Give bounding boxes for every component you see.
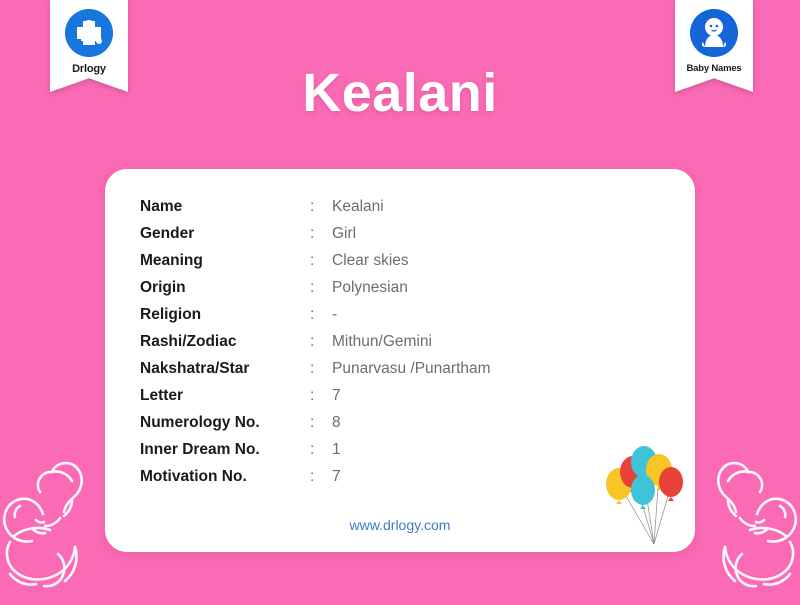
name-details-table: Name:KealaniGender:GirlMeaning:Clear ski… — [140, 193, 491, 490]
table-row: Letter:7 — [140, 382, 491, 409]
table-row: Inner Dream No.:1 — [140, 436, 491, 463]
table-row: Gender:Girl — [140, 220, 491, 247]
row-label: Letter — [140, 382, 310, 409]
row-value: 7 — [332, 463, 491, 490]
row-label: Motivation No. — [140, 463, 310, 490]
row-separator: : — [310, 355, 332, 382]
baby-icon — [690, 9, 738, 57]
row-separator: : — [310, 463, 332, 490]
row-label: Religion — [140, 301, 310, 328]
row-separator: : — [310, 247, 332, 274]
row-value: Punarvasu /Punartham — [332, 355, 491, 382]
row-value: 1 — [332, 436, 491, 463]
mother-and-baby-icon — [0, 450, 106, 600]
table-row: Rashi/Zodiac:Mithun/Gemini — [140, 328, 491, 355]
row-value: Polynesian — [332, 274, 491, 301]
row-value: Mithun/Gemini — [332, 328, 491, 355]
row-label: Nakshatra/Star — [140, 355, 310, 382]
name-details-card: Name:KealaniGender:GirlMeaning:Clear ski… — [105, 169, 695, 552]
row-separator: : — [310, 382, 332, 409]
table-row: Motivation No.:7 — [140, 463, 491, 490]
row-separator: : — [310, 409, 332, 436]
mother-and-baby-icon — [694, 450, 800, 600]
doctor-medical-cross-icon — [65, 9, 113, 57]
balloons-icon — [597, 440, 689, 552]
row-label: Origin — [140, 274, 310, 301]
website-link[interactable]: www.drlogy.com — [105, 517, 695, 533]
row-value: Kealani — [332, 193, 491, 220]
table-row: Name:Kealani — [140, 193, 491, 220]
table-row: Numerology No.:8 — [140, 409, 491, 436]
row-label: Rashi/Zodiac — [140, 328, 310, 355]
row-label: Gender — [140, 220, 310, 247]
row-value: Clear skies — [332, 247, 491, 274]
row-value: 8 — [332, 409, 491, 436]
row-separator: : — [310, 220, 332, 247]
row-label: Numerology No. — [140, 409, 310, 436]
row-separator: : — [310, 274, 332, 301]
table-body: Name:KealaniGender:GirlMeaning:Clear ski… — [140, 193, 491, 490]
table-row: Meaning:Clear skies — [140, 247, 491, 274]
table-row: Origin:Polynesian — [140, 274, 491, 301]
row-label: Meaning — [140, 247, 310, 274]
row-separator: : — [310, 436, 332, 463]
table-row: Nakshatra/Star:Punarvasu /Punartham — [140, 355, 491, 382]
row-label: Inner Dream No. — [140, 436, 310, 463]
row-separator: : — [310, 301, 332, 328]
table-row: Religion:- — [140, 301, 491, 328]
row-value: - — [332, 301, 491, 328]
row-label: Name — [140, 193, 310, 220]
row-separator: : — [310, 193, 332, 220]
row-separator: : — [310, 328, 332, 355]
row-value: Girl — [332, 220, 491, 247]
page-title: Kealani — [0, 62, 800, 124]
row-value: 7 — [332, 382, 491, 409]
